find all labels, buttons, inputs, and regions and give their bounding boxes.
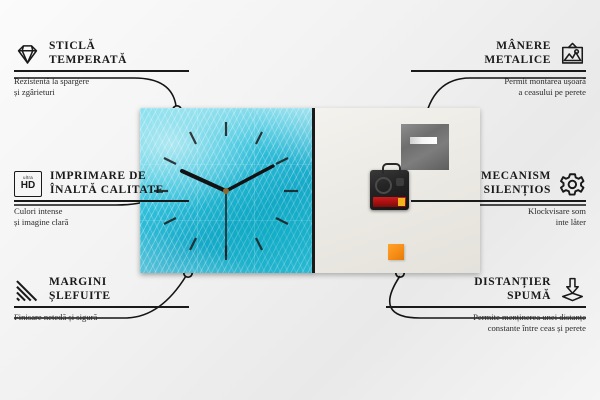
infographic-stage: STICLĂ TEMPERATĂ Rezistentă la spargere … <box>0 0 600 400</box>
title-line-2: SILENȚIOS <box>481 184 551 198</box>
tick-1 <box>256 132 262 144</box>
callout-metal-handles: MÂNERE METALICE Permit montarea ușoară a… <box>411 40 586 99</box>
subtitle-line-1: Klockvisare som <box>411 206 586 218</box>
tick-5 <box>256 238 262 250</box>
clock-center-cap <box>223 188 229 194</box>
clock-mechanism <box>370 170 409 210</box>
callout-title: MARGINI ȘLEFUITE <box>49 276 111 303</box>
hanger-slot <box>410 137 437 144</box>
tick-4 <box>276 218 288 224</box>
tick-7 <box>190 238 196 250</box>
diagonal-stripes-icon <box>14 277 41 303</box>
callout-title: MECANISM SILENȚIOS <box>481 170 551 197</box>
callout-head: MÂNERE METALICE <box>411 40 586 67</box>
callout-tempered-glass: STICLĂ TEMPERATĂ Rezistentă la spargere … <box>14 40 189 99</box>
callout-rule <box>411 70 586 72</box>
title-line-1: MECANISM <box>481 170 551 184</box>
subtitle-line-1: Permite menținerea unei distanțe <box>386 312 586 324</box>
subtitle-line-1: Finisare netedă și sigură <box>14 312 189 324</box>
callout-foam-spacer: DISTANȚIER SPUMĂ Permite menținerea unei… <box>386 276 586 335</box>
subtitle-line-1: Culori intense <box>14 206 189 218</box>
foam-spacer-pad <box>388 244 404 260</box>
callout-rule <box>14 306 189 308</box>
tick-10 <box>164 158 176 164</box>
callout-rule <box>14 200 189 202</box>
battery-positive-terminal <box>398 198 405 206</box>
arrow-down-pad-icon <box>559 277 586 303</box>
title-line-1: STICLĂ <box>49 40 127 54</box>
subtitle-line-2: și zgârieturi <box>14 87 189 99</box>
subtitle-line-2: constante între ceas și perete <box>386 323 586 335</box>
callout-subtitle: Permit montarea ușoară a ceasului pe per… <box>411 76 586 99</box>
battery <box>373 197 406 207</box>
title-line-2: TEMPERATĂ <box>49 54 127 68</box>
mechanism-dial <box>375 177 392 194</box>
ultra-hd-large-label: HD <box>21 181 35 191</box>
subtitle-line-1: Permit montarea ușoară <box>411 76 586 88</box>
title-line-1: MÂNERE <box>484 40 551 54</box>
callout-subtitle: Permite menținerea unei distanțe constan… <box>386 312 586 335</box>
title-line-1: IMPRIMARE DE <box>50 170 164 184</box>
callout-rule <box>386 306 586 308</box>
callout-subtitle: Rezistentă la spargere și zgârieturi <box>14 76 189 99</box>
callout-subtitle: Finisare netedă și sigură <box>14 312 189 324</box>
callout-head: MARGINI ȘLEFUITE <box>14 276 189 303</box>
tick-2 <box>276 158 288 164</box>
callout-silent-mechanism: MECANISM SILENȚIOS Klockvisare som inte … <box>411 170 586 229</box>
mechanism-hanging-loop <box>382 163 401 174</box>
subtitle-line-1: Rezistentă la spargere <box>14 76 189 88</box>
callout-subtitle: Klockvisare som inte låter <box>411 206 586 229</box>
subtitle-line-2: a ceasului pe perete <box>411 87 586 99</box>
title-line-2: SPUMĂ <box>474 290 551 304</box>
callout-hd-print: ultra HD IMPRIMARE DE ÎNALTĂ CALITATE Cu… <box>14 170 189 229</box>
ultra-hd-icon: ultra HD <box>14 171 42 197</box>
tick-11 <box>190 132 196 144</box>
title-line-2: ÎNALTĂ CALITATE <box>50 184 164 198</box>
metal-hanger-plate <box>401 124 449 170</box>
title-line-2: ȘLEFUITE <box>49 290 111 304</box>
callout-title: DISTANȚIER SPUMĂ <box>474 276 551 303</box>
callout-subtitle: Culori intense și imagine clară <box>14 206 189 229</box>
callout-title: MÂNERE METALICE <box>484 40 551 67</box>
callout-polished-edges: MARGINI ȘLEFUITE Finisare netedă și sigu… <box>14 276 189 323</box>
minute-hand <box>226 166 273 191</box>
diamond-icon <box>14 41 41 67</box>
title-line-1: DISTANȚIER <box>474 276 551 290</box>
callout-rule <box>14 70 189 72</box>
callout-head: DISTANȚIER SPUMĂ <box>386 276 586 303</box>
callout-title: IMPRIMARE DE ÎNALTĂ CALITATE <box>50 170 164 197</box>
callout-title: STICLĂ TEMPERATĂ <box>49 40 127 67</box>
gear-icon <box>559 171 586 197</box>
subtitle-line-2: și imagine clară <box>14 217 189 229</box>
hanging-picture-icon <box>559 41 586 67</box>
title-line-1: MARGINI <box>49 276 111 290</box>
callout-head: MECANISM SILENȚIOS <box>411 170 586 197</box>
callout-head: ultra HD IMPRIMARE DE ÎNALTĂ CALITATE <box>14 170 189 197</box>
callout-head: STICLĂ TEMPERATĂ <box>14 40 189 67</box>
mechanism-knob <box>396 178 404 186</box>
callout-rule <box>411 200 586 202</box>
subtitle-line-2: inte låter <box>411 217 586 229</box>
title-line-2: METALICE <box>484 54 551 68</box>
